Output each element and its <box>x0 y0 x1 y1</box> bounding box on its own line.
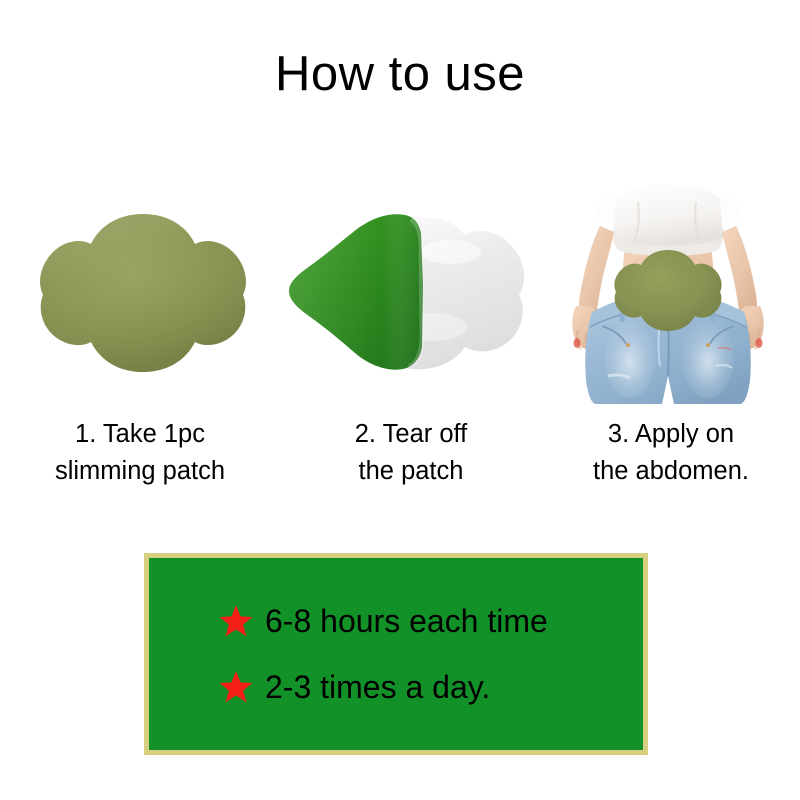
usage-line-duration: 6-8 hours each time <box>219 604 643 638</box>
star-icon <box>219 604 253 638</box>
step-2: 2. Tear off the patch <box>277 175 545 505</box>
star-icon <box>219 670 253 704</box>
step-2-caption: 2. Tear off the patch <box>355 416 467 490</box>
step-1: 1. Take 1pc slimming patch <box>9 175 277 505</box>
step-3-caption: 3. Apply on the abdomen. <box>593 416 749 490</box>
usage-line-frequency: 2-3 times a day. <box>219 670 643 704</box>
usage-duration-text: 6-8 hours each time <box>265 605 548 637</box>
step-3: 3. Apply on the abdomen. <box>545 175 791 505</box>
patch-peeling-off-liner-illustration <box>283 207 539 379</box>
step-1-figure <box>9 175 277 410</box>
usage-instructions-box: 6-8 hours each time 2-3 times a day. <box>144 553 648 755</box>
steps-row: 1. Take 1pc slimming patch <box>0 175 800 505</box>
usage-frequency-text: 2-3 times a day. <box>265 671 490 703</box>
step-3-figure <box>545 175 791 410</box>
page-title: How to use <box>0 50 800 99</box>
patch-applied-on-abdomen-photo <box>568 180 768 405</box>
olive-slimming-patch-illustration <box>36 211 250 375</box>
step-2-figure <box>277 175 545 410</box>
step-1-caption: 1. Take 1pc slimming patch <box>55 416 225 490</box>
